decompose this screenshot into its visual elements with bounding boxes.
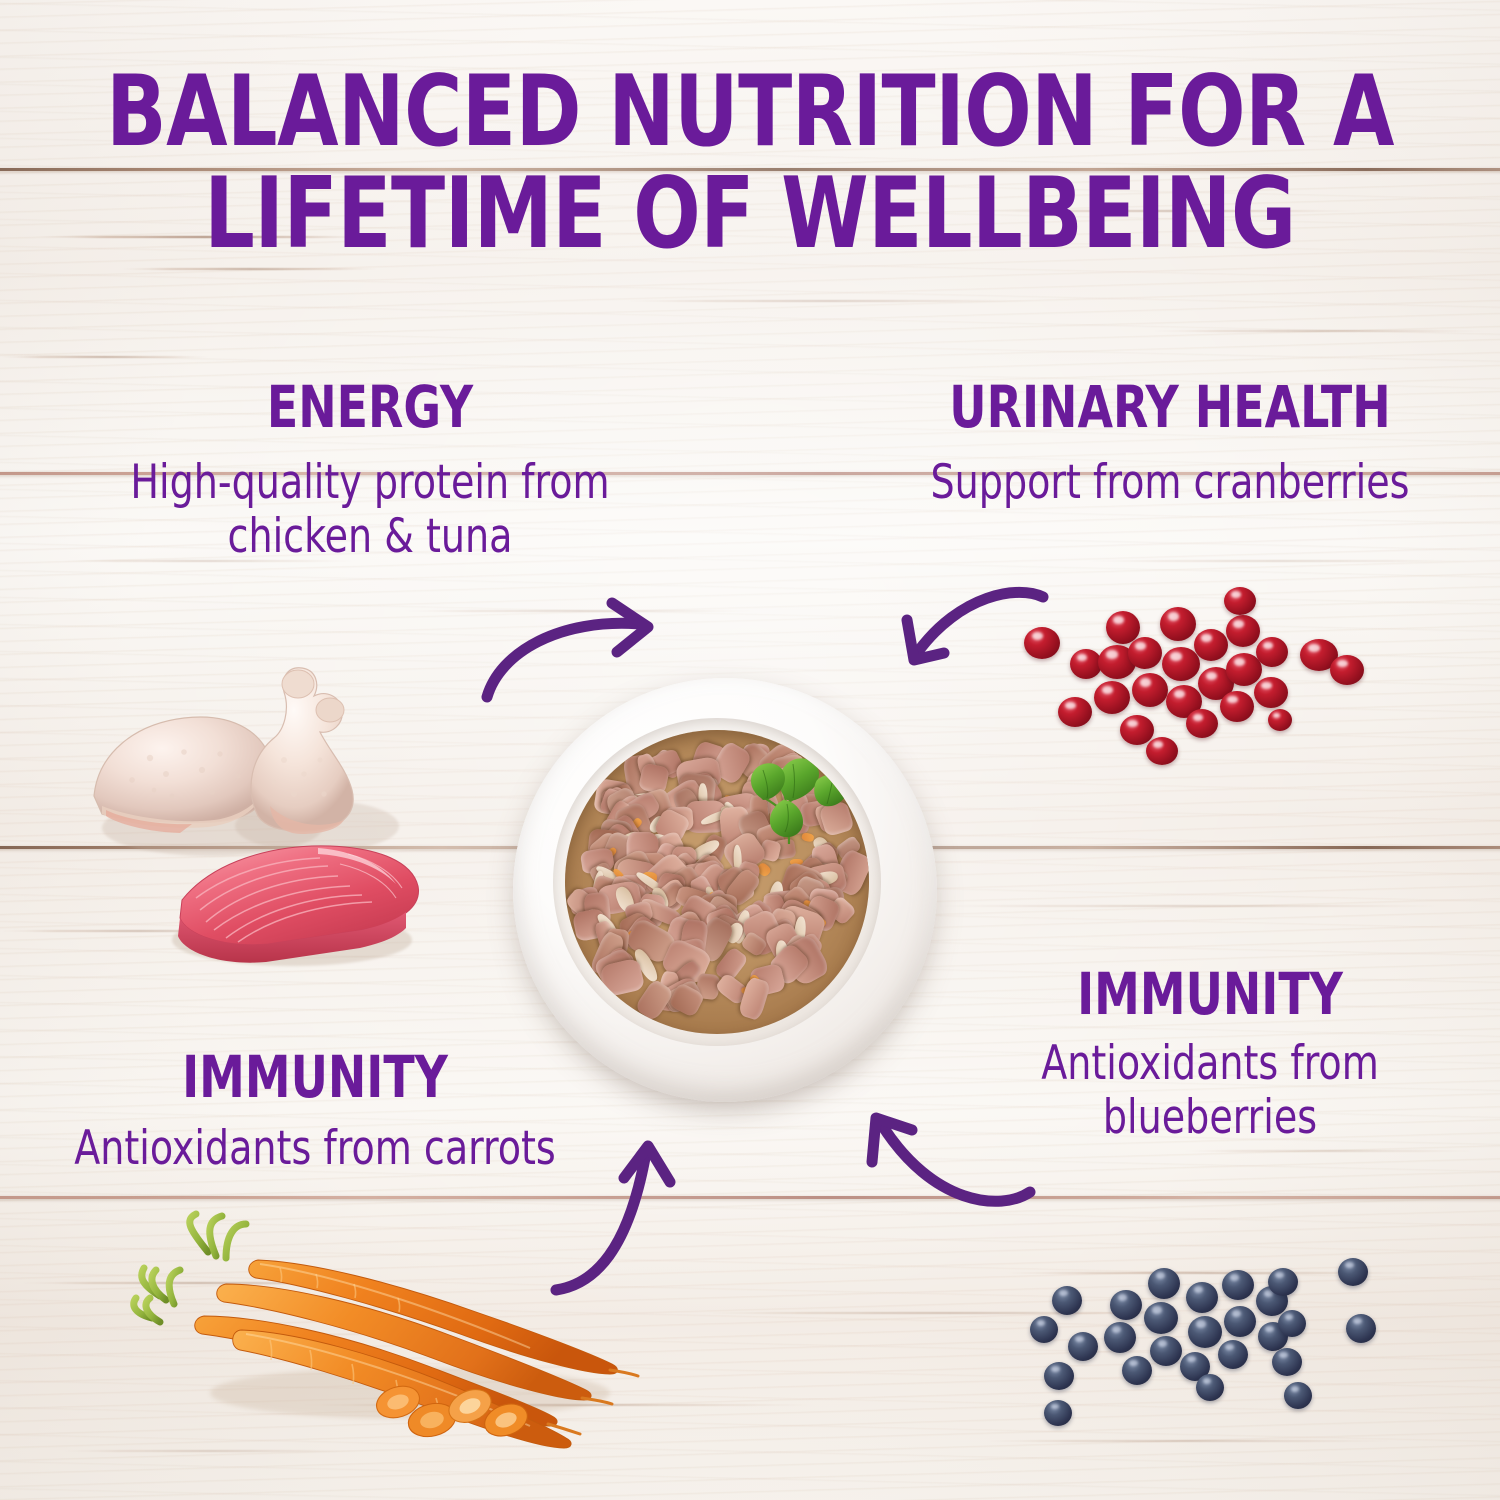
parsley-garnish [725, 740, 855, 850]
gravy-and-chunks [565, 730, 869, 1034]
feature-immunity-blueberries-body: Antioxidants from blueberries [999, 1037, 1422, 1144]
page-title: BALANCED NUTRITION FOR A LIFETIME OF WEL… [75, 62, 1425, 266]
cranberries-image [1020, 585, 1400, 765]
feature-energy-body: High-quality protein from chicken & tuna [91, 456, 649, 563]
feature-immunity-blueberries-title: IMMUNITY [1003, 965, 1417, 1023]
feature-energy: ENERGY High-quality protein from chicken… [60, 378, 680, 563]
feature-urinary-health-body: Support from cranberries [900, 456, 1440, 510]
feature-immunity-blueberries: IMMUNITY Antioxidants from blueberries [975, 965, 1445, 1144]
carrots-image [130, 1208, 655, 1500]
feature-immunity-carrots: IMMUNITY Antioxidants from carrots [10, 1048, 620, 1176]
chicken-and-tuna-image [62, 648, 442, 978]
feature-immunity-carrots-body: Antioxidants from carrots [41, 1122, 590, 1176]
infographic-canvas: BALANCED NUTRITION FOR A LIFETIME OF WEL… [0, 0, 1500, 1500]
feature-energy-title: ENERGY [97, 378, 643, 436]
blueberries-image [1000, 1248, 1420, 1448]
feature-urinary-health-title: URINARY HEALTH [906, 378, 1434, 436]
feature-immunity-carrots-title: IMMUNITY [47, 1048, 584, 1106]
feature-urinary-health: URINARY HEALTH Support from cranberries [870, 378, 1470, 510]
meat-chunk [737, 976, 771, 1021]
